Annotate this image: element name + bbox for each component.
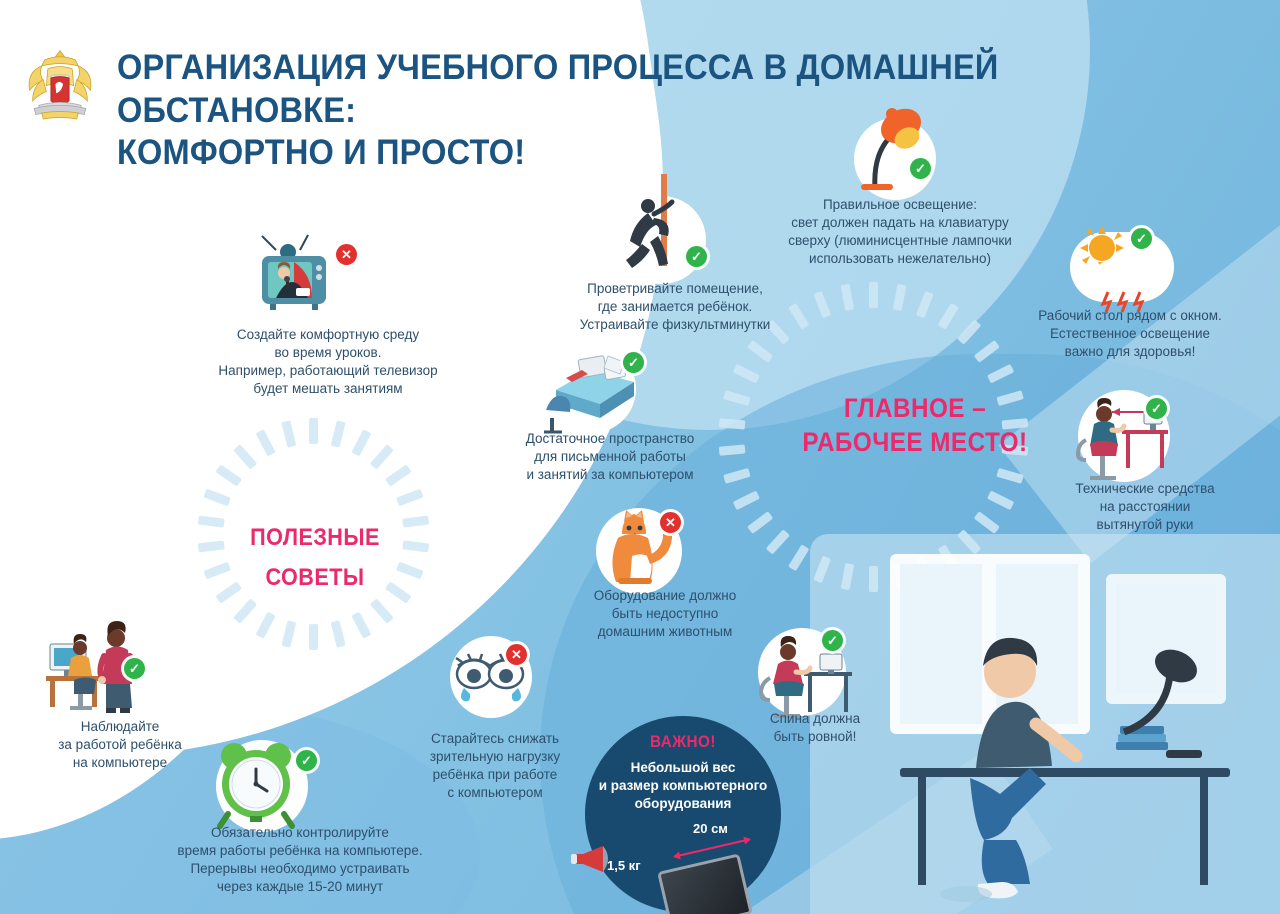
badge-ok-lighting: ✓ (910, 158, 931, 179)
note-line: Обязательно контролируйте (140, 824, 460, 842)
section-heading-useful-tips: ПОЛЕЗНЫЕ СОВЕТЫ (212, 523, 419, 593)
note-line: на расстоянии (1030, 498, 1260, 516)
section-heading-main-workplace: ГЛАВНОЕ – РАБОЧЕЕ МЕСТО! (785, 392, 1046, 460)
note-eye-strain: Старайтесь снижатьзрительную нагрузкуреб… (400, 730, 590, 802)
note-line: где занимается ребёнок. (540, 298, 810, 316)
badge-no-television: ✕ (336, 244, 357, 265)
note-line: на компьютере (20, 754, 220, 772)
badge-ok-supervision: ✓ (124, 658, 145, 679)
badge-ok-time-control: ✓ (296, 750, 317, 771)
note-line: Наблюдайте (20, 718, 220, 736)
note-line: Технические средства (1030, 480, 1260, 498)
note-line: будет мешать занятиям (183, 380, 473, 398)
badge-ok-arm-distance: ✓ (1146, 398, 1167, 419)
note-line: Правильное освещение: (748, 196, 1052, 214)
note-line: за работой ребёнка (20, 736, 220, 754)
important-body-line: Небольшой вес (595, 759, 771, 777)
note-line: во время уроков. (183, 344, 473, 362)
note-line: Проветривайте помещение, (540, 280, 810, 298)
note-line: время работы ребёнка на компьютере. (140, 842, 460, 860)
badge-ok-ventilation: ✓ (686, 246, 707, 267)
section-heading-tips-line-2: СОВЕТЫ (212, 563, 419, 593)
note-line: и занятий за компьютером (500, 466, 720, 484)
note-line: Оборудование должно (570, 587, 760, 605)
page-title-line-2: КОМФОРТНО И ПРОСТО! (117, 132, 1103, 175)
important-body: Небольшой веси размер компьютерногообору… (585, 759, 781, 812)
dimension-label: 20 см (693, 821, 728, 836)
note-line: Старайтесь снижать (400, 730, 590, 748)
television-icon (250, 232, 354, 322)
section-heading-main-line-1: ГЛАВНОЕ – (785, 392, 1046, 426)
note-line: важно для здоровья! (985, 343, 1275, 361)
note-lighting: Правильное освещение:свет должен падать … (748, 196, 1052, 268)
note-line: Устраивайте физкультминутки (540, 316, 810, 334)
note-time-control: Обязательно контролируйтевремя работы ре… (140, 824, 460, 896)
stretching-person-icon (612, 170, 716, 286)
sun-cloud-icon (1060, 218, 1184, 314)
note-line: вытянутой руки (1030, 516, 1260, 534)
note-line: ребёнка при работе (400, 766, 590, 784)
badge-ok-window: ✓ (1131, 228, 1152, 249)
note-line: использовать нежелательно) (748, 250, 1052, 268)
tired-eyes-icon (444, 630, 544, 724)
badge-no-pets: ✕ (660, 512, 681, 533)
note-line: быть недоступно (570, 605, 760, 623)
section-heading-main-line-2: РАБОЧЕЕ МЕСТО! (785, 426, 1046, 460)
note-line: домашним животным (570, 623, 760, 641)
badge-ok-workspace: ✓ (623, 352, 644, 373)
note-line: Спина должна (740, 710, 890, 728)
megaphone-icon (571, 844, 615, 874)
important-body-line: оборудования (595, 795, 771, 813)
badge-ok-posture: ✓ (822, 630, 843, 651)
russia-coat-of-arms-icon (22, 46, 98, 126)
note-desk-near-window: Рабочий стол рядом с окном.Естественное … (985, 307, 1275, 361)
infographic-poster: ОРГАНИЗАЦИЯ УЧЕБНОГО ПРОЦЕССА В ДОМАШНЕЙ… (0, 0, 1280, 914)
note-line: Естественное освещение (985, 325, 1275, 343)
note-line: сверху (люминисцентные лампочки (748, 232, 1052, 250)
note-comfort-environment: Создайте комфортную средуво время уроков… (183, 326, 473, 398)
note-line: Перерывы необходимо устраивать (140, 860, 460, 878)
important-body-line: и размер компьютерного (595, 777, 771, 795)
section-heading-tips-line-1: ПОЛЕЗНЫЕ (212, 523, 419, 553)
note-pets: Оборудование должнобыть недоступнодомашн… (570, 587, 760, 641)
note-supervision: Наблюдайтеза работой ребёнкана компьютер… (20, 718, 220, 772)
note-enough-space: Достаточное пространстводля письменной р… (500, 430, 720, 484)
note-ventilation: Проветривайте помещение,где занимается р… (540, 280, 810, 334)
desk-distance-icon (1068, 382, 1180, 488)
note-line: Рабочий стол рядом с окном. (985, 307, 1275, 325)
note-arm-distance: Технические средствана расстояниивытянут… (1030, 480, 1260, 534)
boy-at-desk-illustration (870, 554, 1280, 914)
note-line: зрительную нагрузку (400, 748, 590, 766)
note-line: Достаточное пространство (500, 430, 720, 448)
tablet-icon (657, 853, 753, 914)
badge-no-eye-strain: ✕ (506, 644, 527, 665)
note-line: через каждые 15-20 минут (140, 878, 460, 896)
note-line: с компьютером (400, 784, 590, 802)
page-title: ОРГАНИЗАЦИЯ УЧЕБНОГО ПРОЦЕССА В ДОМАШНЕЙ… (117, 47, 1103, 175)
desk-lamp-icon (845, 96, 949, 204)
important-callout: ВАЖНО! Небольшой веси размер компьютерно… (585, 716, 781, 912)
header: ОРГАНИЗАЦИЯ УЧЕБНОГО ПРОЦЕССА В ДОМАШНЕЙ… (0, 0, 1280, 150)
note-line: Создайте комфортную среду (183, 326, 473, 344)
note-line: Например, работающий телевизор (183, 362, 473, 380)
note-line: свет должен падать на клавиатуру (748, 214, 1052, 232)
note-line: для письменной работы (500, 448, 720, 466)
important-title: ВАЖНО! (595, 732, 771, 752)
